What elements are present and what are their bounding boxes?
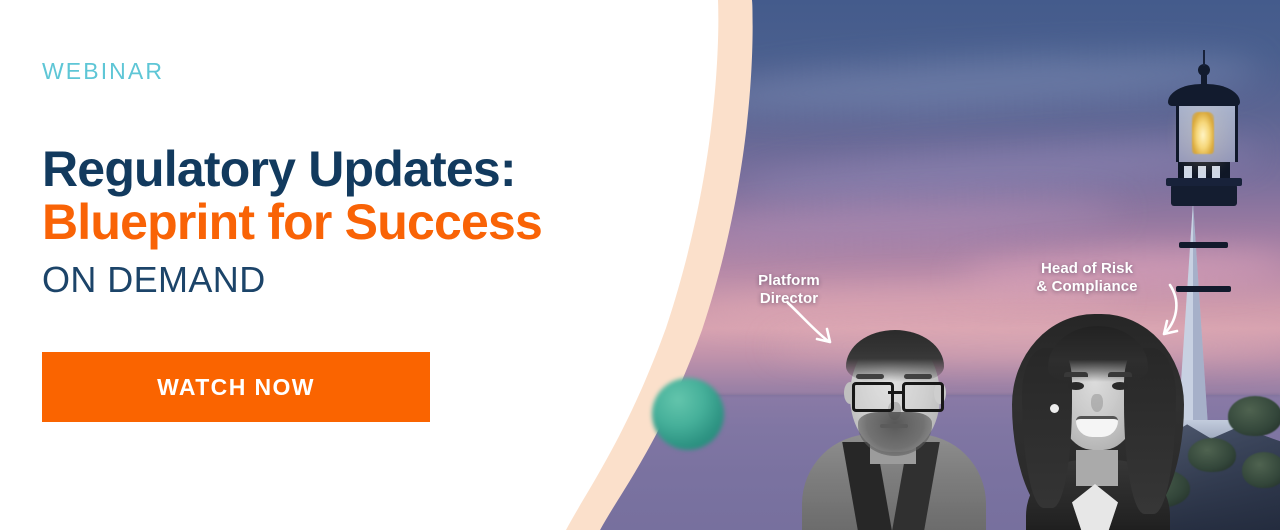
watch-now-button[interactable]: WATCH NOW [42,352,430,422]
speaker-eyebrow [1108,372,1132,377]
eyeglass-bridge [888,391,902,394]
shrub [1242,452,1280,488]
webinar-promo-banner: Platform Director Head of Risk & Complia… [0,0,1280,530]
speaker-earring [1050,404,1059,413]
speaker-nose [1091,394,1103,412]
lighthouse-gallery-rail [1166,178,1242,186]
speaker-eye [1068,382,1084,390]
headline-line-1: Regulatory Updates: [42,143,642,196]
shrub [1228,396,1280,436]
eyebrow-label: WEBINAR [42,58,164,85]
lighthouse-band [1179,242,1228,248]
speaker-eyebrow [1064,372,1088,377]
watch-now-button-label: WATCH NOW [157,374,315,401]
speaker-eyebrow [856,374,884,379]
page-title: Regulatory Updates: Blueprint for Succes… [42,143,642,249]
teal-sphere-decoration [652,378,724,450]
headline-line-2: Blueprint for Success [42,196,642,249]
eyeglasses-icon [852,382,940,406]
speaker-eyebrow [904,374,932,379]
availability-subhead: ON DEMAND [42,259,266,301]
lighthouse-lightning-rod [1203,50,1205,66]
curved-arrow-icon [784,300,844,352]
lighthouse-gallery [1171,184,1237,206]
shrub [1188,438,1236,472]
speaker-mouth [880,424,908,428]
lighthouse-roof [1168,84,1240,106]
curved-arrow-icon [1142,282,1188,344]
eyeglass-lens [852,382,894,412]
banner-text-content: WEBINAR Regulatory Updates: Blueprint fo… [42,0,642,530]
speaker-eye [1112,382,1128,390]
eyeglass-lens [902,382,944,412]
speaker-label-head-of-risk-compliance: Head of Risk & Compliance [1016,260,1158,297]
lighthouse-lamp-glow [1192,112,1214,154]
speaker-neck [1076,450,1118,486]
